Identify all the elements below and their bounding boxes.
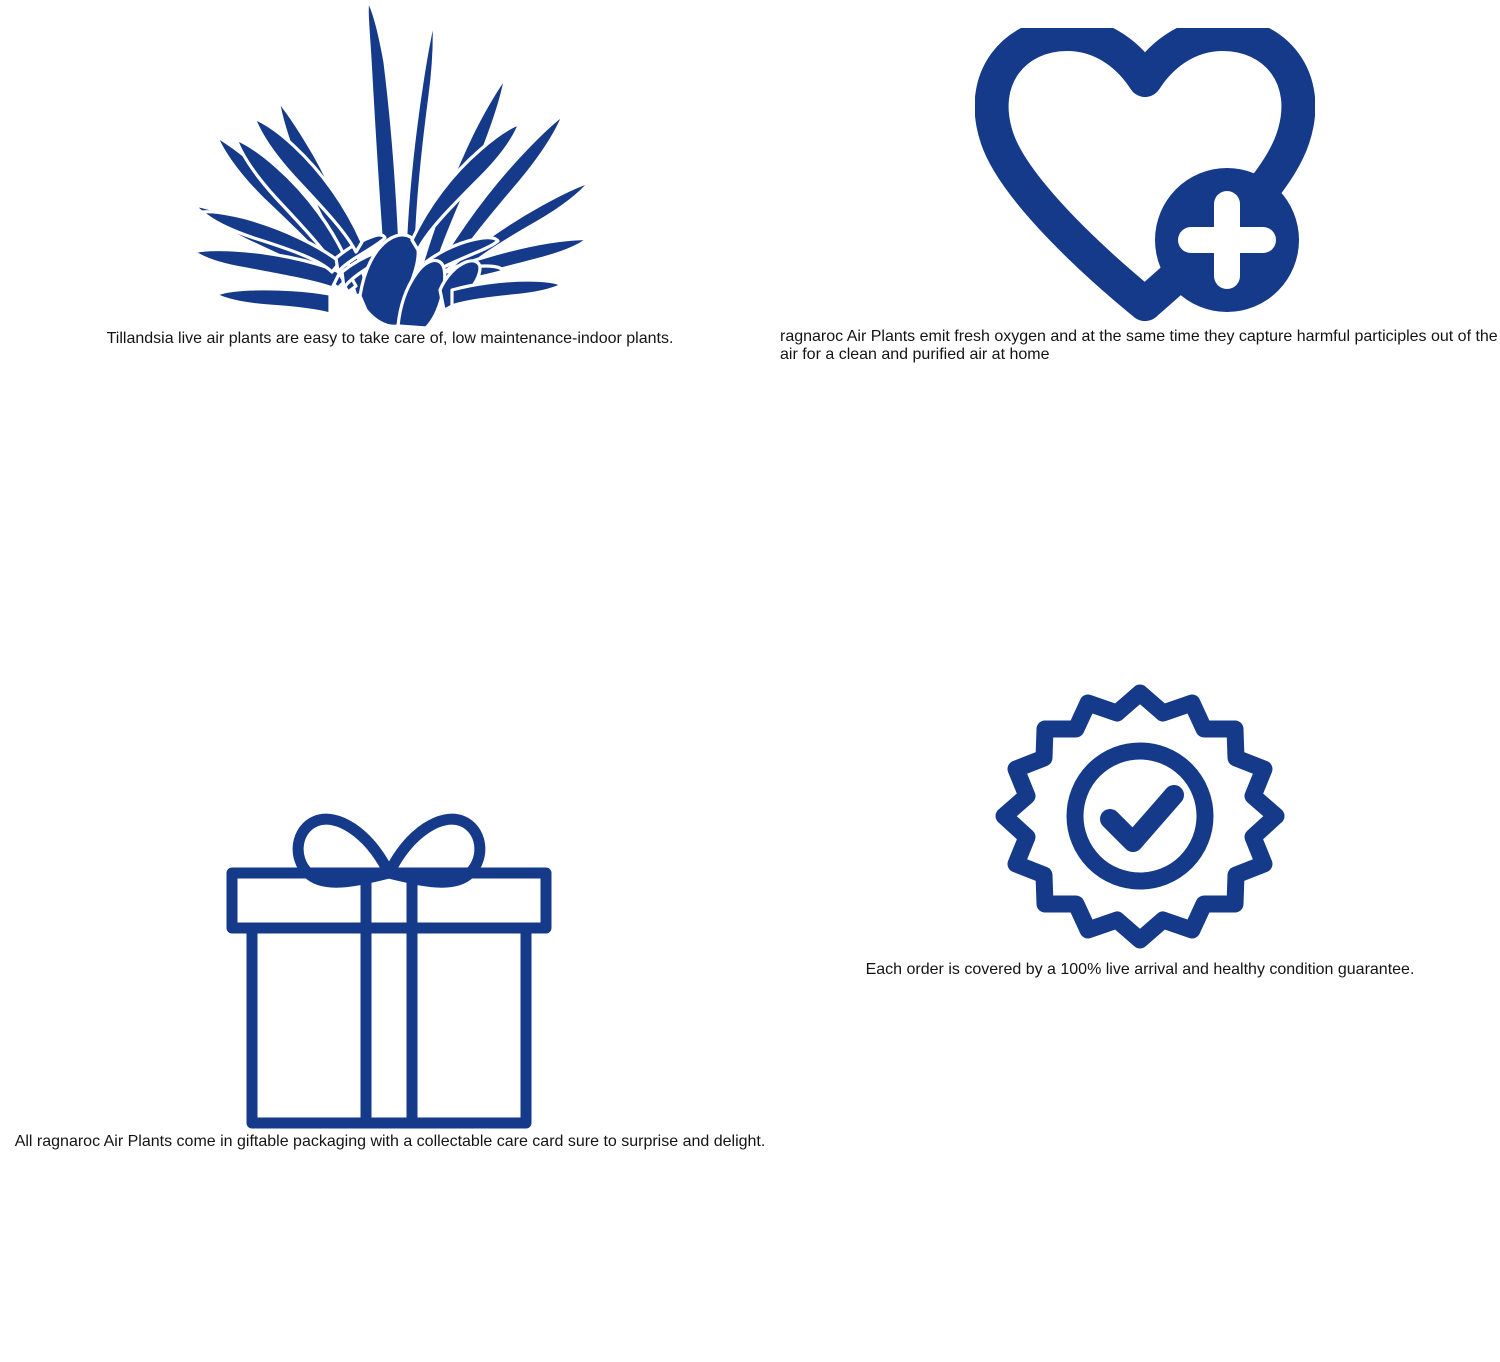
feature-cell-giftable-packaging: All ragnaroc Air Plants come in giftable…	[0, 681, 780, 1362]
feature-text-giftable-packaging: All ragnaroc Air Plants come in giftable…	[15, 1133, 766, 1151]
feature-text-fresh-oxygen: ragnaroc Air Plants emit fresh oxygen an…	[780, 328, 1500, 364]
feature-cell-air-plants-easy-care: Tillandsia live air plants are easy to t…	[0, 0, 780, 681]
air-plant-icon	[190, 0, 590, 330]
verified-badge-icon	[990, 681, 1290, 961]
feature-text-air-plants-easy-care: Tillandsia live air plants are easy to t…	[107, 330, 674, 348]
feature-text-live-arrival-guarantee: Each order is covered by a 100% live arr…	[866, 961, 1415, 979]
feature-cell-fresh-oxygen: ragnaroc Air Plants emit fresh oxygen an…	[780, 0, 1500, 681]
feature-grid: Tillandsia live air plants are easy to t…	[0, 0, 1500, 1362]
feature-cell-live-arrival-guarantee: Each order is covered by a 100% live arr…	[780, 681, 1500, 1362]
gift-box-icon	[224, 803, 554, 1133]
heart-plus-icon	[975, 28, 1315, 328]
